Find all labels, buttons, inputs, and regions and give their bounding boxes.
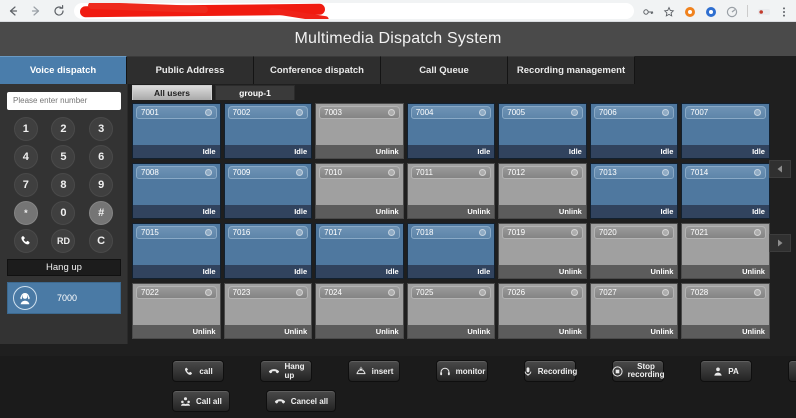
browser-nav-icons — [6, 4, 66, 18]
extension-number: 7015 — [141, 228, 159, 237]
triangle-left-icon[interactable] — [769, 160, 791, 178]
action-cancel-all-button[interactable]: Cancel all — [266, 390, 336, 412]
extension-number: 7001 — [141, 108, 159, 117]
extension-card-footer: Unlink — [591, 265, 678, 278]
status-badge: Idle — [477, 147, 490, 156]
extension-settings-icon[interactable] — [296, 289, 303, 296]
extension-card[interactable]: 7023Unlink — [224, 283, 313, 339]
extension-card-footer: Idle — [225, 145, 312, 158]
extension-settings-icon[interactable] — [754, 289, 761, 296]
extension-card[interactable]: 7005Idle — [498, 103, 587, 159]
extension-card[interactable]: 7012Unlink — [498, 163, 587, 219]
extension-card[interactable]: 7004Idle — [407, 103, 496, 159]
extension-card[interactable]: 7010Unlink — [315, 163, 404, 219]
extension-card-footer: Unlink — [133, 325, 220, 338]
extension-card-body — [682, 180, 769, 205]
extension-pill: 7013 — [594, 166, 675, 179]
action-insert-button[interactable]: insert — [348, 360, 400, 382]
extension-card[interactable]: 7015Idle — [132, 223, 221, 279]
action-call-all-button[interactable]: Call all — [172, 390, 230, 412]
extension-settings-icon[interactable] — [479, 109, 486, 116]
current-user-strip[interactable]: 7000 — [7, 282, 121, 314]
extension-card-footer: Idle — [225, 205, 312, 218]
extension-pill: 7025 — [411, 286, 492, 299]
extension-settings-icon[interactable] — [571, 289, 578, 296]
extension-pill: 7023 — [228, 286, 309, 299]
extension-pill: 7003 — [319, 106, 400, 119]
extension-card[interactable]: 7016Idle — [224, 223, 313, 279]
extension-card-header: 7022 — [133, 284, 220, 300]
kebab-menu-icon[interactable] — [778, 5, 790, 17]
extension-card-header: 7006 — [591, 104, 678, 120]
tab-conference-dispatch[interactable]: Conference dispatch — [254, 56, 381, 84]
extension-card-header: 7017 — [316, 224, 403, 240]
dialpad: 1 2 3 4 5 6 7 8 9 * 0 # — [7, 117, 120, 253]
extension-card-footer: Idle — [133, 265, 220, 278]
person-icon — [713, 366, 723, 377]
hangup-handset-icon — [268, 366, 280, 377]
action-label: Hang up — [285, 362, 305, 380]
action-stop-recording-button[interactable]: Stop recording — [612, 360, 664, 382]
extension-number: 7018 — [416, 228, 434, 237]
extension-card-header: 7026 — [499, 284, 586, 300]
extension-card-header: 7020 — [591, 224, 678, 240]
extension-card-body — [591, 180, 678, 205]
extension-number: 7012 — [507, 168, 525, 177]
extension-card-body — [591, 240, 678, 265]
extension-card-body — [316, 240, 403, 265]
extension-card-header: 7014 — [682, 164, 769, 180]
extension-card-header: 7008 — [133, 164, 220, 180]
extension-card[interactable]: 7025Unlink — [407, 283, 496, 339]
extension-card-footer: Idle — [682, 205, 769, 218]
extension-number: 7005 — [507, 108, 525, 117]
headset-agent-icon — [13, 286, 37, 310]
extension-card[interactable]: 7026Unlink — [498, 283, 587, 339]
dialpad-key-5[interactable]: 5 — [51, 145, 75, 169]
extension-card-body — [316, 180, 403, 205]
extension-card-body — [316, 300, 403, 325]
extension-card-header: 7019 — [499, 224, 586, 240]
extension-number: 7010 — [324, 168, 342, 177]
extension-settings-icon[interactable] — [754, 229, 761, 236]
extension-pill: 7017 — [319, 226, 400, 239]
extension-card-body — [682, 240, 769, 265]
extension-card-footer: Idle — [225, 265, 312, 278]
extension-settings-icon[interactable] — [754, 169, 761, 176]
extension-settings-icon[interactable] — [662, 169, 669, 176]
extension-card-body — [499, 240, 586, 265]
status-badge: Unlink — [559, 327, 582, 336]
extension-card[interactable]: 7018Idle — [407, 223, 496, 279]
extension-number: 7004 — [416, 108, 434, 117]
extension-card-header: 7012 — [499, 164, 586, 180]
status-badge: Unlink — [651, 327, 674, 336]
extension-card-body — [682, 120, 769, 145]
extension-card-body — [499, 180, 586, 205]
extension-card-header: 7003 — [316, 104, 403, 120]
hang-up-button[interactable]: Hang up — [7, 259, 121, 276]
extension-settings-icon[interactable] — [571, 169, 578, 176]
application-window: Multimedia Dispatch System Voice dispatc… — [0, 22, 796, 418]
extension-card-footer: Idle — [408, 145, 495, 158]
status-badge: Unlink — [742, 267, 765, 276]
action-label: call — [199, 367, 212, 376]
extension-pill: 7011 — [411, 166, 492, 179]
dial-call-button[interactable] — [14, 229, 38, 253]
extension-card-body — [225, 300, 312, 325]
browser-toolbar — [0, 0, 796, 22]
extension-card-footer: Unlink — [499, 325, 586, 338]
extension-settings-icon[interactable] — [388, 229, 395, 236]
extension-settings-icon[interactable] — [662, 229, 669, 236]
dialpad-key-2[interactable]: 2 — [51, 117, 75, 141]
status-badge: Idle — [294, 267, 307, 276]
action-monitor-button[interactable]: monitor — [436, 360, 488, 382]
extension-card[interactable]: 7011Unlink — [407, 163, 496, 219]
extension-number: 7020 — [599, 228, 617, 237]
extension-card-body — [499, 120, 586, 145]
extension-settings-icon[interactable] — [205, 169, 212, 176]
status-badge: Unlink — [742, 327, 765, 336]
dialpad-key-8[interactable]: 8 — [51, 173, 75, 197]
extension-card[interactable]: 7024Unlink — [315, 283, 404, 339]
status-badge: Idle — [477, 267, 490, 276]
status-badge: Idle — [203, 147, 216, 156]
extension-pill: 7022 — [136, 286, 217, 299]
extension-card-footer: Unlink — [408, 325, 495, 338]
tab-public-address[interactable]: Public Address — [127, 56, 254, 84]
extension-card-header: 7024 — [316, 284, 403, 300]
triangle-right-icon[interactable] — [769, 234, 791, 252]
extension-card-header: 7009 — [225, 164, 312, 180]
extension-card-body — [316, 120, 403, 145]
extension-card[interactable]: 7007Idle — [681, 103, 770, 159]
extension-card[interactable]: 7019Unlink — [498, 223, 587, 279]
extension-card-body — [499, 300, 586, 325]
back-arrow-icon[interactable] — [6, 4, 20, 18]
status-badge: Unlink — [376, 147, 399, 156]
status-badge: Unlink — [559, 207, 582, 216]
extension-number: 7011 — [416, 168, 433, 177]
phone-handset-icon — [19, 234, 32, 247]
extension-card-header: 7025 — [408, 284, 495, 300]
action-row-primary: call Hang up insert monitor — [0, 356, 796, 386]
extension-settings-icon[interactable] — [662, 289, 669, 296]
extension-pill: 7009 — [228, 166, 309, 179]
extension-pill: 7004 — [411, 106, 492, 119]
extension-card[interactable]: 7008Idle — [132, 163, 221, 219]
extension-number: 7017 — [324, 228, 342, 237]
phone-handset-icon — [183, 366, 194, 377]
extension-number: 7027 — [599, 288, 617, 297]
extension-number: 7002 — [233, 108, 251, 117]
extension-number: 7016 — [233, 228, 251, 237]
app-header: Multimedia Dispatch System — [0, 22, 796, 56]
extension-card-header: 7010 — [316, 164, 403, 180]
extension-icon[interactable] — [726, 5, 738, 17]
extension-grid: 7001Idle7002Idle7003Unlink7004Idle7005Id… — [132, 100, 772, 339]
status-badge: Unlink — [376, 327, 399, 336]
extension-card-footer: Idle — [499, 145, 586, 158]
extension-card-header: 7023 — [225, 284, 312, 300]
extension-pill: 7028 — [685, 286, 766, 299]
extension-card-header: 7028 — [682, 284, 769, 300]
dialpad-key-6[interactable]: 6 — [89, 145, 113, 169]
group-tab-all-users[interactable]: All users — [132, 85, 212, 100]
status-badge: Unlink — [467, 207, 490, 216]
extension-settings-icon[interactable] — [479, 289, 486, 296]
extension-card-body — [225, 180, 312, 205]
address-bar[interactable] — [74, 3, 634, 19]
extension-card-footer: Idle — [408, 265, 495, 278]
action-label: PA — [728, 367, 739, 376]
extension-card-header: 7002 — [225, 104, 312, 120]
extension-card-footer: Idle — [591, 205, 678, 218]
action-call-button[interactable]: call — [172, 360, 224, 382]
number-input[interactable] — [7, 92, 121, 110]
extension-card-footer: Unlink — [316, 325, 403, 338]
extension-number: 7007 — [690, 108, 708, 117]
extension-card-footer: Unlink — [499, 265, 586, 278]
extension-card[interactable]: 7021Unlink — [681, 223, 770, 279]
extension-settings-icon[interactable] — [388, 289, 395, 296]
extension-card[interactable]: 7028Unlink — [681, 283, 770, 339]
extension-pill: 7016 — [228, 226, 309, 239]
extension-number: 7022 — [141, 288, 159, 297]
microphone-icon — [523, 366, 533, 377]
extension-card[interactable]: 7014Idle — [681, 163, 770, 219]
action-label: Recording — [538, 367, 578, 376]
extension-number: 7021 — [690, 228, 708, 237]
dialpad-key-0[interactable]: 0 — [51, 201, 75, 225]
extension-settings-icon[interactable] — [205, 229, 212, 236]
dialpad-key-star[interactable]: * — [14, 201, 38, 225]
extension-pill: 7008 — [136, 166, 217, 179]
extension-card-footer: Idle — [591, 145, 678, 158]
extension-pill: 7005 — [502, 106, 583, 119]
extension-number: 7026 — [507, 288, 525, 297]
main-tab-bar: Voice dispatch Public Address Conference… — [0, 56, 796, 84]
group-tab-group-1[interactable]: group-1 — [215, 85, 295, 100]
extension-card-body — [408, 180, 495, 205]
extension-card-footer: Idle — [682, 145, 769, 158]
extension-card-footer: Unlink — [682, 325, 769, 338]
current-user-number: 7000 — [57, 293, 77, 303]
extension-pill: 7027 — [594, 286, 675, 299]
browser-extension-icons — [642, 5, 790, 17]
password-key-icon[interactable] — [642, 5, 654, 17]
extension-number: 7006 — [599, 108, 617, 117]
extension-number: 7019 — [507, 228, 525, 237]
extension-card-body — [133, 180, 220, 205]
extension-card[interactable]: 7017Idle — [315, 223, 404, 279]
extension-card-body — [408, 300, 495, 325]
extension-card-header: 7005 — [499, 104, 586, 120]
cancel-all-icon — [274, 396, 286, 407]
extension-icon[interactable] — [684, 5, 696, 17]
extension-card[interactable]: 7009Idle — [224, 163, 313, 219]
extension-card[interactable]: 7006Idle — [590, 103, 679, 159]
extension-settings-icon[interactable] — [479, 169, 486, 176]
extension-card-body — [225, 120, 312, 145]
extension-card-footer: Unlink — [316, 145, 403, 158]
status-badge: Idle — [203, 267, 216, 276]
extension-pill: 7024 — [319, 286, 400, 299]
extension-number: 7023 — [233, 288, 251, 297]
extension-card-footer: Unlink — [682, 265, 769, 278]
extension-number: 7025 — [416, 288, 434, 297]
dial-redial-button[interactable]: RD — [51, 229, 75, 253]
status-badge: Idle — [752, 207, 765, 216]
extension-card[interactable]: 7013Idle — [590, 163, 679, 219]
action-label: Stop recording — [628, 363, 665, 379]
extension-card-header: 7021 — [682, 224, 769, 240]
action-recording-button[interactable]: Recording — [524, 360, 576, 382]
extension-card-footer: Unlink — [225, 325, 312, 338]
extension-settings-icon[interactable] — [479, 229, 486, 236]
extension-card-header: 7016 — [225, 224, 312, 240]
extension-pill: 7010 — [319, 166, 400, 179]
insert-icon — [355, 366, 367, 377]
status-badge: Idle — [661, 207, 674, 216]
extension-card-body — [408, 120, 495, 145]
extension-card-body — [133, 240, 220, 265]
dialpad-key-1[interactable]: 1 — [14, 117, 38, 141]
extension-card-footer: Unlink — [499, 205, 586, 218]
extension-card-footer: Unlink — [408, 205, 495, 218]
action-pa-button[interactable]: PA — [700, 360, 752, 382]
extension-number: 7028 — [690, 288, 708, 297]
extension-card-header: 7011 — [408, 164, 495, 180]
extension-card-footer: Idle — [133, 145, 220, 158]
extension-settings-icon[interactable] — [662, 109, 669, 116]
page-title: Multimedia Dispatch System — [294, 30, 501, 48]
extension-settings-icon[interactable] — [388, 109, 395, 116]
extension-settings-icon[interactable] — [296, 169, 303, 176]
extension-card-header: 7027 — [591, 284, 678, 300]
status-badge: Unlink — [651, 267, 674, 276]
dialpad-key-3[interactable]: 3 — [89, 117, 113, 141]
extension-settings-icon[interactable] — [296, 109, 303, 116]
action-file-pa-button[interactable]: File PA — [788, 360, 796, 382]
extension-pill: 7026 — [502, 286, 583, 299]
extension-card-footer: Unlink — [591, 325, 678, 338]
extension-pill: 7012 — [502, 166, 583, 179]
status-badge: Idle — [661, 147, 674, 156]
extension-settings-icon[interactable] — [205, 289, 212, 296]
dial-clear-button[interactable]: C — [89, 229, 113, 253]
extension-settings-icon[interactable] — [296, 229, 303, 236]
status-badge: Idle — [294, 147, 307, 156]
action-label: monitor — [456, 367, 486, 376]
extension-pill: 7014 — [685, 166, 766, 179]
extension-settings-icon[interactable] — [571, 229, 578, 236]
status-badge: Idle — [569, 147, 582, 156]
extension-card[interactable]: 7027Unlink — [590, 283, 679, 339]
extension-pill: 7007 — [685, 106, 766, 119]
extension-card-footer: Unlink — [316, 205, 403, 218]
action-label: Cancel all — [291, 397, 328, 406]
extension-pill: 7001 — [136, 106, 217, 119]
extension-card-body — [591, 300, 678, 325]
action-label: insert — [372, 367, 394, 376]
extension-card-footer: Idle — [133, 205, 220, 218]
extension-card[interactable]: 7002Idle — [224, 103, 313, 159]
status-badge: Idle — [203, 207, 216, 216]
extension-card-body — [682, 300, 769, 325]
dialpad-key-hash[interactable]: # — [89, 201, 113, 225]
extension-card[interactable]: 7001Idle — [132, 103, 221, 159]
extension-card[interactable]: 7022Unlink — [132, 283, 221, 339]
extension-card-body — [133, 300, 220, 325]
extension-card-body — [133, 120, 220, 145]
extension-card-header: 7004 — [408, 104, 495, 120]
extension-pill: 7021 — [685, 226, 766, 239]
extension-pill: 7015 — [136, 226, 217, 239]
toolbar-divider — [747, 5, 748, 17]
extension-number: 7009 — [233, 168, 251, 177]
extension-number: 7013 — [599, 168, 617, 177]
extension-card-body — [591, 120, 678, 145]
status-badge: Unlink — [467, 327, 490, 336]
stop-record-icon — [612, 366, 623, 377]
call-all-icon — [180, 396, 191, 407]
group-tab-bar: All users group-1 — [132, 84, 796, 100]
tab-recording-management[interactable]: Recording management — [508, 56, 635, 84]
status-badge: Unlink — [376, 207, 399, 216]
dialpad-key-4[interactable]: 4 — [14, 145, 38, 169]
reload-icon[interactable] — [52, 4, 66, 18]
action-hang-up-button[interactable]: Hang up — [260, 360, 312, 382]
action-label: Call all — [196, 397, 222, 406]
extension-settings-icon[interactable] — [205, 109, 212, 116]
dialpad-key-9[interactable]: 9 — [89, 173, 113, 197]
extension-pill: 7020 — [594, 226, 675, 239]
extension-settings-icon[interactable] — [388, 169, 395, 176]
status-badge: Idle — [294, 207, 307, 216]
extension-pill: 7018 — [411, 226, 492, 239]
action-row-secondary: Call all Cancel all — [0, 386, 796, 416]
profile-icon[interactable] — [757, 5, 769, 17]
dialer-panel: 1 2 3 4 5 6 7 8 9 * 0 # — [0, 84, 128, 344]
extension-card-header: 7013 — [591, 164, 678, 180]
tab-call-queue[interactable]: Call Queue — [381, 56, 508, 84]
status-badge: Unlink — [284, 327, 307, 336]
tab-voice-dispatch[interactable]: Voice dispatch — [0, 56, 127, 84]
action-toolbar: call Hang up insert monitor — [0, 356, 796, 418]
status-badge: Unlink — [559, 267, 582, 276]
page-navigation — [769, 160, 793, 252]
dialpad-key-7[interactable]: 7 — [14, 173, 38, 197]
extension-card[interactable]: 7003Unlink — [315, 103, 404, 159]
extension-card-footer: Idle — [316, 265, 403, 278]
bookmark-star-icon[interactable] — [663, 5, 675, 17]
extension-icon[interactable] — [705, 5, 717, 17]
extension-number: 7003 — [324, 108, 342, 117]
status-badge: Idle — [386, 267, 399, 276]
extension-card[interactable]: 7020Unlink — [590, 223, 679, 279]
forward-arrow-icon[interactable] — [29, 4, 43, 18]
extension-number: 7014 — [690, 168, 708, 177]
extension-card-body — [408, 240, 495, 265]
extension-settings-icon[interactable] — [754, 109, 761, 116]
extension-pill: 7002 — [228, 106, 309, 119]
status-badge: Unlink — [193, 327, 216, 336]
extension-pill: 7006 — [594, 106, 675, 119]
extension-settings-icon[interactable] — [571, 109, 578, 116]
extension-card-body — [225, 240, 312, 265]
